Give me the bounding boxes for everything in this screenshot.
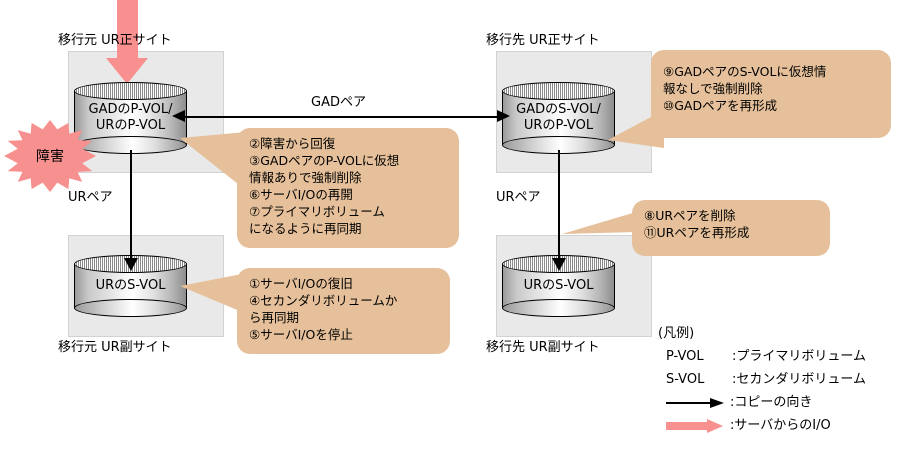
cylinder-top <box>502 82 615 100</box>
black-arrow-icon <box>666 398 728 408</box>
connector-label-ur-pair-left: URペア <box>68 190 113 205</box>
callout-line: ⑨GADペアのS-VOLに仮想情 <box>663 63 881 80</box>
callout-line: ①サーバI/Oの復旧 <box>249 275 440 292</box>
callout-line: ⑦プライマリボリューム <box>249 203 449 220</box>
callout-line: ④セカンダリボリュームか <box>249 292 440 309</box>
legend-value: プライマリボリューム <box>736 345 866 368</box>
callout-line: ②障害から回復 <box>249 135 449 152</box>
pink-arrow-icon <box>666 419 728 433</box>
callout-line: ⑥サーバI/Oの再開 <box>249 186 449 203</box>
volume-dst-pvol: GADのS-VOL/ URのP-VOL <box>502 82 615 154</box>
volume-label-line2: URのP-VOL <box>502 118 615 134</box>
callout-line: ⑤サーバI/Oを停止 <box>249 326 440 343</box>
callout-tail-dst-svol <box>562 206 640 240</box>
legend-key: P-VOL <box>666 345 732 368</box>
legend-row: : コピーの向き <box>658 391 898 414</box>
volume-label-line1: URのS-VOL <box>74 278 187 294</box>
legend-title: (凡例) <box>658 322 898 345</box>
legend-value: サーバからのI/O <box>734 414 830 437</box>
legend: (凡例) P-VOL : プライマリボリューム S-VOL : セカンダリボリュ… <box>658 322 898 437</box>
callout-src-svol: ①サーバI/Oの復旧 ④セカンダリボリュームか ら再同期 ⑤サーバI/Oを停止 <box>237 268 450 354</box>
legend-value: セカンダリボリューム <box>736 368 866 391</box>
diagram-root: { "diagram": { "sites": [ { "id": "src-p… <box>0 0 901 461</box>
volume-label-dst-pvol: GADのS-VOL/ URのP-VOL <box>502 102 615 134</box>
legend-key: S-VOL <box>666 368 732 391</box>
callout-line: ら再同期 <box>249 309 440 326</box>
volume-label-src-svol: URのS-VOL <box>74 278 187 294</box>
callout-dst-pvol: ⑨GADペアのS-VOLに仮想情 報なしで強制削除 ⑩GADペアを再形成 <box>651 50 891 138</box>
volume-label-src-pvol: GADのP-VOL/ URのP-VOL <box>74 102 187 134</box>
callout-line: ⑧URペアを削除 <box>644 207 820 224</box>
volume-label-dst-svol: URのS-VOL <box>502 278 615 294</box>
connector-label-ur-pair-right: URペア <box>496 190 541 205</box>
legend-value: コピーの向き <box>734 391 812 414</box>
callout-line: ③GADペアのP-VOLに仮想 <box>249 152 449 169</box>
cylinder-bottom <box>74 299 187 317</box>
callout-line: ⑪URペアを再形成 <box>644 224 820 241</box>
legend-row: : サーバからのI/O <box>658 414 898 437</box>
callout-dst-svol: ⑧URペアを削除 ⑪URペアを再形成 <box>632 200 830 256</box>
volume-label-line1: GADのP-VOL/ <box>74 102 187 118</box>
site-label-dst-primary: 移行先 UR正サイト <box>486 33 600 48</box>
callout-line: になるように再同期 <box>249 220 449 237</box>
volume-label-line1: URのS-VOL <box>502 278 615 294</box>
cylinder-bottom <box>502 299 615 317</box>
connector-label-gad-pair: GADペア <box>311 95 366 110</box>
volume-label-line2: URのP-VOL <box>74 118 187 134</box>
callout-src-pvol: ②障害から回復 ③GADペアのP-VOLに仮想 情報ありで強制削除 ⑥サーバI/… <box>237 128 459 248</box>
callout-line: 報なしで強制削除 <box>663 80 881 97</box>
callout-line: 情報ありで強制削除 <box>249 169 449 186</box>
legend-row: P-VOL : プライマリボリューム <box>658 345 898 368</box>
callout-line: ⑩GADペアを再形成 <box>663 97 881 114</box>
site-label-src-secondary: 移行元 UR副サイト <box>58 340 172 355</box>
site-label-src-primary: 移行元 UR正サイト <box>58 33 172 48</box>
volume-label-line1: GADのS-VOL/ <box>502 102 615 118</box>
cylinder-top <box>74 82 187 100</box>
site-label-dst-secondary: 移行先 UR副サイト <box>486 340 600 355</box>
legend-row: S-VOL : セカンダリボリューム <box>658 368 898 391</box>
